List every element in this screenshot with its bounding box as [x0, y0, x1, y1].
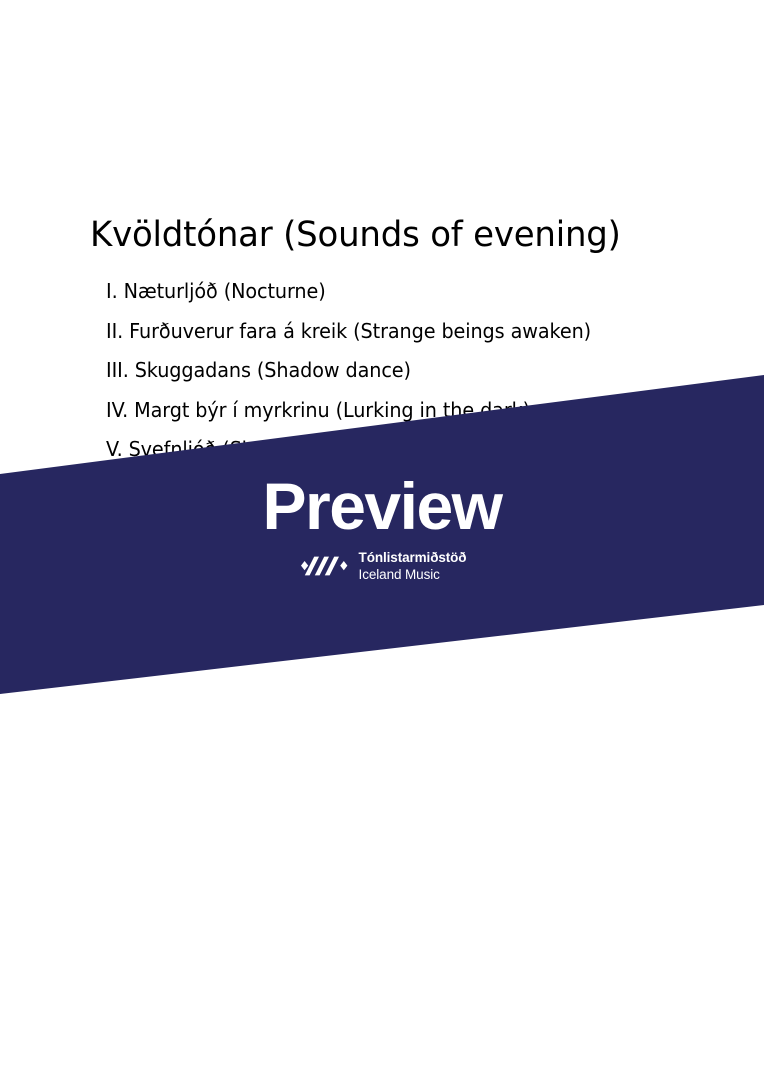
list-item: III. Skuggadans (Shadow dance) [106, 351, 591, 391]
page-title: Kvöldtónar (Sounds of evening) [90, 215, 621, 255]
list-item: V. Svefnljóð (Slee [106, 430, 591, 470]
movement-list: I. Næturljóð (Nocturne) II. Furðuverur f… [106, 272, 611, 470]
list-item: IV. Margt býr í myrkrinu (Lurking in the… [106, 391, 591, 431]
score-text-block: Kvöldtónar (Sounds of evening) I. Næturl… [0, 0, 764, 1080]
score-preview-page: Kvöldtónar (Sounds of evening) I. Næturl… [0, 0, 764, 1080]
list-item: I. Næturljóð (Nocturne) [106, 272, 591, 312]
list-item: II. Furðuverur fara á kreik (Strange bei… [106, 312, 591, 352]
